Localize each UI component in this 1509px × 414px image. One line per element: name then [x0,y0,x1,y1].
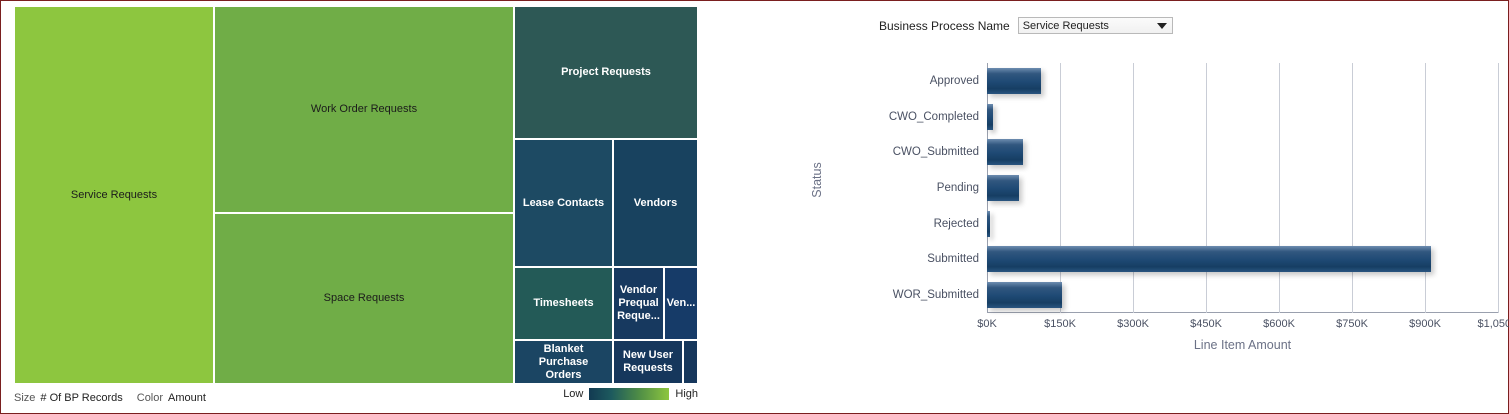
select-value: Service Requests [1023,20,1109,32]
color-ramp [589,388,669,400]
bar-row[interactable]: WOR_Submitted [987,277,1498,313]
gridline [1498,63,1499,313]
bar[interactable] [987,139,1023,165]
bar-row[interactable]: CWO_Submitted [987,134,1498,170]
y-axis-tick-label: CWO_Completed [889,111,979,123]
bar-row[interactable]: Approved [987,63,1498,99]
x-axis-tick-label: $450K [1190,318,1222,330]
bar-row[interactable]: Rejected [987,206,1498,242]
treemap-tile-label: Blanket Purchase Orders [536,343,592,382]
treemap-tile[interactable]: Service Requests [14,6,214,384]
y-axis-tick-label: Approved [930,75,979,87]
treemap-plot[interactable]: Service RequestsWork Order RequestsSpace… [14,6,698,384]
treemap-tile[interactable]: Lease Contacts [514,139,613,267]
treemap-tile-label: New User Requests [620,349,676,375]
bar-plot-area: Status Line Item Amount ApprovedCWO_Comp… [987,63,1498,313]
treemap-tile[interactable]: Vendor Prequal Reque... [613,267,664,340]
color-scale-low-label: Low [563,388,583,400]
x-axis-tick-label: $150K [1044,318,1076,330]
treemap-tile-label: Service Requests [68,189,160,202]
y-axis-tick-label: Pending [937,182,979,194]
bar-row[interactable]: Pending [987,170,1498,206]
bar[interactable] [987,246,1431,272]
x-axis-tick-label: $300K [1117,318,1149,330]
x-axis-tick-label: $600K [1263,318,1295,330]
treemap-panel: Service RequestsWork Order RequestsSpace… [14,6,698,410]
treemap-tile[interactable]: Blanket Purchase Orders [514,340,613,384]
bar[interactable] [987,211,990,237]
y-axis-tick-label: WOR_Submitted [893,289,979,301]
color-scale-high-label: High [675,388,698,400]
treemap-tile[interactable] [683,340,698,384]
x-axis-tick-label: $900K [1409,318,1441,330]
bar[interactable] [987,175,1019,201]
filter-label: Business Process Name [879,19,1010,33]
x-axis-title: Line Item Amount [987,338,1498,352]
bar[interactable] [987,282,1062,308]
treemap-tile[interactable]: Space Requests [214,213,514,384]
business-process-filter: Business Process Name Service Requests [879,17,1173,34]
treemap-tile-label: Lease Contacts [520,197,607,210]
treemap-tile-label: Vendors [631,197,680,210]
x-axis-tick-label: $0K [977,318,997,330]
bar-row[interactable]: Submitted [987,242,1498,278]
treemap-tile[interactable]: Timesheets [514,267,613,340]
treemap-tile-label: Project Requests [558,66,654,79]
treemap-tile[interactable]: Ven... [664,267,698,340]
color-scale-legend: Low High [563,388,698,400]
y-axis-tick-label: CWO_Submitted [893,146,979,158]
y-axis-tick-label: Rejected [934,218,979,230]
treemap-tile-label: Ven... [664,297,698,310]
legend-size-key: Size [14,392,35,404]
dashboard-root: Service RequestsWork Order RequestsSpace… [0,0,1509,414]
treemap-tile[interactable]: Vendors [613,139,698,267]
x-axis-tick-label: $1,050K [1478,318,1509,330]
bar-chart-panel: Business Process Name Service Requests S… [701,1,1509,413]
treemap-tile-label: Space Requests [321,292,408,305]
legend-color-key: Color [137,392,163,404]
bar[interactable] [987,68,1041,94]
business-process-name-select[interactable]: Service Requests [1018,17,1173,34]
treemap-tile-label: Work Order Requests [308,103,420,116]
chevron-down-icon [1157,23,1167,29]
bar[interactable] [987,104,993,130]
x-axis-tick-label: $750K [1336,318,1368,330]
legend-color-value: Amount [168,392,206,404]
treemap-tile-label: Vendor Prequal Reque... [614,284,663,323]
legend-size-value: # Of BP Records [40,392,122,404]
treemap-tile[interactable]: Work Order Requests [214,6,514,213]
treemap-tile[interactable]: Project Requests [514,6,698,139]
treemap-tile-label: Timesheets [530,297,596,310]
y-axis-title: Status [810,150,824,210]
y-axis-tick-label: Submitted [927,253,979,265]
bar-row[interactable]: CWO_Completed [987,99,1498,135]
treemap-tile[interactable]: New User Requests [613,340,683,384]
